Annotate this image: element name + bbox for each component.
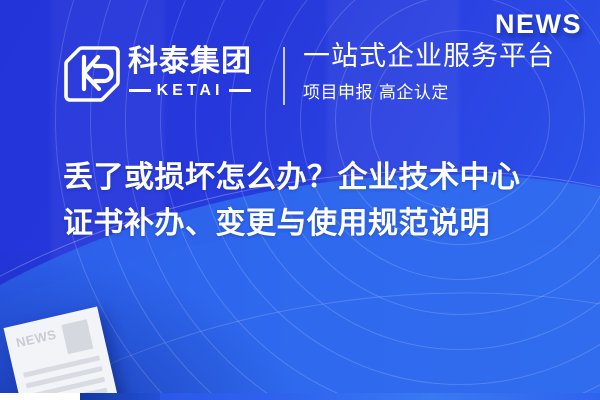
newspaper-title: NEWS: [15, 328, 58, 350]
brand-slogan: 一站式企业服务平台 项目申报 高企认定: [303, 42, 555, 103]
newspaper-image-placeholder-icon: [61, 319, 93, 354]
news-badge: NEWS: [495, 9, 582, 40]
brand-name-cn: 科泰集团: [128, 47, 252, 77]
brand-wordmark: 科泰集团 KETAI: [128, 47, 252, 100]
headline-line-1: 丢了或损坏怎么办？企业技术中心: [63, 155, 563, 201]
brand-name-en-row: KETAI: [128, 82, 252, 100]
header-divider: [283, 47, 285, 105]
bottom-accent-strip-left: [0, 393, 148, 400]
brand-name-en: KETAI: [157, 82, 224, 100]
headline-line-2: 证书补办、变更与使用规范说明: [63, 201, 563, 247]
wordmark-dash-right: [229, 89, 251, 92]
brand-logo[interactable]: 科泰集团 KETAI: [62, 44, 252, 102]
slogan-sub: 项目申报 高企认定: [303, 78, 555, 103]
news-banner: NEWS 科泰集团 KETAI 一站式企业服务平台 项目申报 高企认定: [0, 0, 600, 400]
ketai-diamond-monogram-icon: [62, 44, 120, 102]
article-headline: 丢了或损坏怎么办？企业技术中心 证书补办、变更与使用规范说明: [63, 155, 563, 246]
slogan-main: 一站式企业服务平台: [303, 42, 555, 72]
banner-header: NEWS 科泰集团 KETAI 一站式企业服务平台 项目申报 高企认定: [0, 0, 600, 130]
wordmark-dash-left: [129, 89, 151, 92]
